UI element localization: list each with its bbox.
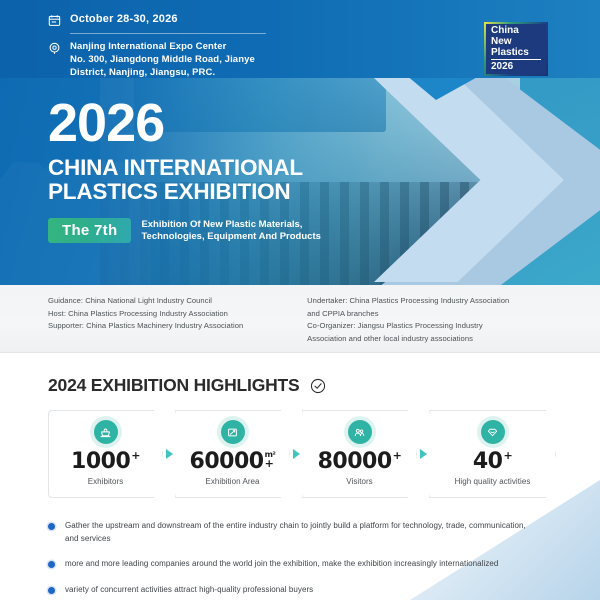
stat-card-activities[interactable]: 40 + High quality activities — [429, 410, 556, 498]
stat-number: 60000 — [190, 451, 264, 473]
highlights-title: 2024 EXHIBITION HIGHLIGHTS — [48, 375, 300, 396]
stat-card-exhibitors[interactable]: 1000 + Exhibitors — [48, 410, 163, 498]
stat-number: 1000 — [71, 451, 130, 473]
logo-year: 2026 — [491, 59, 541, 73]
organizer-line: Co-Organizer: Jiangsu Plastics Processin… — [307, 320, 560, 333]
venue-address-line-1: No. 300, Jiangdong Middle Road, Jianye — [70, 53, 255, 66]
card-slot-activities: 40 + High quality activities — [429, 410, 556, 498]
event-logo-inner: China New Plastics 2026 — [486, 24, 546, 74]
hero-title-line-1: CHINA INTERNATIONAL — [48, 156, 321, 180]
organizer-line: and CPPIA branches — [307, 308, 560, 321]
organizer-bar: Guidance: China National Light Industry … — [0, 285, 600, 353]
stat-suffix: + — [131, 451, 140, 461]
event-date-row: October 28-30, 2026 — [48, 12, 266, 27]
stat-card-visitors[interactable]: 80000 + Visitors — [302, 410, 417, 498]
hero-banner: October 28-30, 2026 Nanjing Internationa… — [0, 0, 600, 285]
card-connector-arrow — [417, 410, 429, 498]
stat-plus: + — [131, 451, 140, 461]
poster-page: October 28-30, 2026 Nanjing Internationa… — [0, 0, 600, 600]
hero-subtitle: Exhibition Of New Plastic Materials, Tec… — [141, 219, 320, 243]
hero-subtitle-line-2: Technologies, Equipment And Products — [141, 231, 320, 243]
logo-line-new: New — [491, 36, 541, 47]
hero-title-line-2: PLASTICS EXHIBITION — [48, 180, 321, 204]
area-frame-icon — [221, 420, 245, 444]
stat-label-exhibition-area: Exhibition Area — [205, 477, 259, 486]
calendar-icon — [48, 14, 61, 27]
bullet-text: more and more leading companies around t… — [65, 558, 498, 571]
visitors-group-icon — [348, 420, 372, 444]
organizer-column-left: Guidance: China National Light Industry … — [48, 295, 291, 352]
organizer-line: Guidance: China National Light Industry … — [48, 295, 291, 308]
stat-plus: + — [393, 451, 402, 461]
card-slot-exhibition-area: 60000 m² + Exhibition Area — [175, 410, 302, 498]
stat-label-exhibitors: Exhibitors — [88, 477, 124, 486]
logo-line-china: China — [491, 25, 541, 36]
stat-number: 40 — [473, 451, 503, 473]
venue-name: Nanjing International Expo Center — [70, 40, 255, 53]
stat-suffix: m² + — [265, 451, 276, 469]
list-item: variety of concurrent activities attract… — [48, 584, 540, 597]
logo-line-plastics: Plastics — [491, 47, 541, 58]
organizer-line: Host: China Plastics Processing Industry… — [48, 308, 291, 321]
stat-label-activities: High quality activities — [455, 477, 531, 486]
stat-value-activities: 40 + — [473, 451, 512, 473]
card-connector-arrow — [290, 410, 302, 498]
stat-suffix: + — [393, 451, 402, 461]
exhibitor-booth-icon — [94, 420, 118, 444]
organizer-line: Association and other local industry ass… — [307, 333, 560, 346]
organizer-column-right: Undertaker: China Plastics Processing In… — [307, 295, 560, 352]
bullet-text: Gather the upstream and downstream of th… — [65, 520, 540, 545]
location-pin-icon — [48, 42, 61, 55]
highlights-section: 2024 EXHIBITION HIGHLIGHTS — [0, 353, 600, 596]
event-date: October 28-30, 2026 — [70, 12, 178, 26]
stat-value-exhibitors: 1000 + — [71, 451, 140, 473]
event-info-block: October 28-30, 2026 Nanjing Internationa… — [48, 12, 266, 79]
edition-badge: The 7th — [48, 218, 131, 243]
stat-number: 80000 — [318, 451, 392, 473]
check-circle-icon — [310, 378, 326, 394]
highlights-title-row: 2024 EXHIBITION HIGHLIGHTS — [0, 375, 600, 396]
event-logo[interactable]: China New Plastics 2026 — [484, 22, 548, 76]
organizer-line: Undertaker: China Plastics Processing In… — [307, 295, 560, 308]
card-slot-visitors: 80000 + Visitors — [302, 410, 429, 498]
hero-headline: 2026 CHINA INTERNATIONAL PLASTICS EXHIBI… — [48, 98, 321, 243]
stat-card-exhibition-area[interactable]: 60000 m² + Exhibition Area — [175, 410, 290, 498]
bullet-dot-icon — [48, 523, 55, 530]
bullet-dot-icon — [48, 587, 55, 594]
stat-value-visitors: 80000 + — [318, 451, 402, 473]
hero-edition-row: The 7th Exhibition Of New Plastic Materi… — [48, 218, 321, 243]
card-connector-arrow — [163, 410, 175, 498]
event-venue-row: Nanjing International Expo Center No. 30… — [48, 40, 266, 79]
stat-label-visitors: Visitors — [346, 477, 372, 486]
event-venue-address: Nanjing International Expo Center No. 30… — [70, 40, 255, 79]
list-item: Gather the upstream and downstream of th… — [48, 520, 540, 545]
hero-year: 2026 — [48, 98, 321, 148]
venue-address-line-2: District, Nanjing, Jiangsu, PRC. — [70, 66, 255, 79]
bullet-dot-icon — [48, 561, 55, 568]
bullet-text: variety of concurrent activities attract… — [65, 584, 313, 597]
highlights-cards: 1000 + Exhibitors — [0, 396, 600, 498]
header-divider — [70, 33, 266, 34]
hero-subtitle-line-1: Exhibition Of New Plastic Materials, — [141, 219, 320, 231]
card-slot-exhibitors: 1000 + Exhibitors — [48, 410, 175, 498]
stat-plus: + — [503, 451, 512, 461]
organizer-line: Supporter: China Plastics Machinery Indu… — [48, 320, 291, 333]
stat-suffix: + — [503, 451, 512, 461]
highlights-bullet-list: Gather the upstream and downstream of th… — [0, 498, 600, 596]
diamond-quality-icon — [481, 420, 505, 444]
stat-value-exhibition-area: 60000 m² + — [190, 451, 276, 473]
stat-plus: + — [265, 459, 274, 469]
list-item: more and more leading companies around t… — [48, 558, 540, 571]
